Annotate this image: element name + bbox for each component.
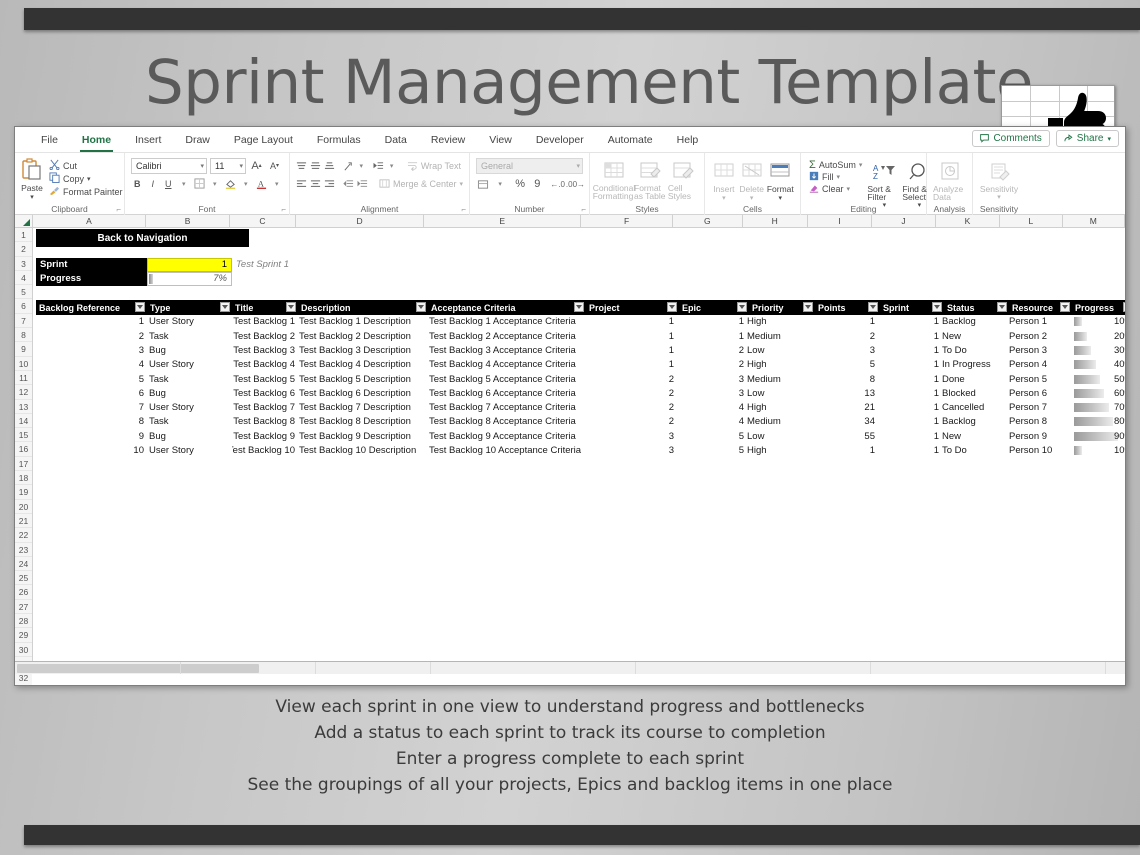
decrease-decimal-button[interactable]: .00→ bbox=[568, 177, 583, 192]
italic-button[interactable]: I bbox=[147, 176, 160, 191]
scrollbar-tick bbox=[635, 662, 636, 674]
filter-icon[interactable] bbox=[1123, 302, 1126, 312]
insert-cells-label: Insert bbox=[713, 184, 734, 194]
cell-title[interactable]: Test Backlog 8 bbox=[232, 415, 295, 429]
row-header-6[interactable]: 6 bbox=[15, 299, 32, 313]
wrap-text-button[interactable]: Wrap Text bbox=[405, 160, 463, 173]
chevron-down-icon[interactable]: ▾ bbox=[271, 176, 284, 191]
align-middle-button[interactable] bbox=[310, 159, 321, 174]
cell-title[interactable]: Test Backlog 5 bbox=[232, 372, 295, 386]
tab-draw[interactable]: Draw bbox=[173, 127, 222, 153]
cell-resource[interactable]: Person 10 bbox=[1009, 443, 1069, 457]
cell-backlog-reference[interactable]: 5 bbox=[36, 372, 144, 386]
progress-value-text: 7% bbox=[213, 273, 227, 284]
row-header-13[interactable]: 13 bbox=[15, 400, 32, 414]
chevron-down-icon[interactable]: ▾ bbox=[493, 177, 507, 192]
cell-sprint[interactable]: 1 bbox=[880, 443, 939, 457]
cell-description[interactable]: Test Backlog 5 Description bbox=[299, 372, 426, 386]
cell-area[interactable]: Back to Navigation Sprint 1 Test Sprint … bbox=[33, 228, 1125, 674]
cell-resource[interactable]: Person 6 bbox=[1009, 386, 1069, 400]
cell-project[interactable]: 2 bbox=[586, 372, 674, 386]
analyze-data-label: Analyze Data bbox=[933, 185, 966, 201]
select-all-corner[interactable] bbox=[15, 215, 33, 227]
cell-points[interactable]: 34 bbox=[815, 415, 875, 429]
cell-progress[interactable]: 20% bbox=[1072, 329, 1126, 343]
cell-sprint[interactable]: 1 bbox=[880, 372, 939, 386]
chevron-down-icon[interactable]: ▾ bbox=[387, 159, 395, 174]
row-header-25[interactable]: 25 bbox=[15, 571, 32, 585]
column-header-E[interactable]: E bbox=[424, 215, 581, 227]
cell-points[interactable]: 2 bbox=[815, 329, 875, 343]
cell-points[interactable]: 13 bbox=[815, 386, 875, 400]
horizontal-scrollbar[interactable] bbox=[15, 661, 1125, 674]
column-header-B[interactable]: B bbox=[146, 215, 230, 227]
caption-line-4: See the groupings of all your projects, … bbox=[0, 772, 1140, 798]
font-color-button[interactable]: A bbox=[255, 176, 268, 191]
cell-resource[interactable]: Person 4 bbox=[1009, 358, 1069, 372]
increase-decimal-button[interactable]: ←.0 bbox=[550, 177, 565, 192]
tab-formulas[interactable]: Formulas bbox=[305, 127, 373, 153]
cell-description[interactable]: Test Backlog 2 Description bbox=[299, 329, 426, 343]
cell-resource[interactable]: Person 1 bbox=[1009, 315, 1069, 329]
cell-status[interactable]: New bbox=[942, 429, 1006, 443]
ribbon-group-editing: Σ AutoSum ▾ Fill ▾ bbox=[801, 153, 927, 215]
filter-icon[interactable] bbox=[803, 302, 813, 312]
cell-title[interactable]: Test Backlog 6 bbox=[232, 386, 295, 400]
filter-icon[interactable] bbox=[1060, 302, 1070, 312]
decrease-font-size-button[interactable]: A▾ bbox=[267, 158, 282, 173]
row-header-9[interactable]: 9 bbox=[15, 342, 32, 356]
cell-priority[interactable]: High bbox=[747, 358, 811, 372]
cell-acceptance-criteria[interactable]: Test Backlog 3 Acceptance Criteria bbox=[429, 343, 584, 357]
column-header-L[interactable]: L bbox=[1000, 215, 1062, 227]
insert-cells-button[interactable]: Insert ▾ bbox=[711, 157, 737, 202]
comma-style-button[interactable]: 9 bbox=[530, 177, 544, 192]
column-header-M[interactable]: M bbox=[1063, 215, 1125, 227]
conditional-formatting-label: Conditional Formatting bbox=[593, 184, 636, 200]
cell-backlog-reference[interactable]: 9 bbox=[36, 429, 144, 443]
cell-progress[interactable]: 90% bbox=[1072, 429, 1126, 443]
tab-insert[interactable]: Insert bbox=[123, 127, 173, 153]
cut-button[interactable]: Cut bbox=[47, 159, 125, 172]
column-header-D[interactable]: D bbox=[296, 215, 425, 227]
table-header-description[interactable]: Description bbox=[298, 300, 428, 314]
cell-epic[interactable]: 3 bbox=[679, 386, 744, 400]
share-button[interactable]: Share ▾ bbox=[1056, 130, 1119, 147]
column-header-F[interactable]: F bbox=[581, 215, 673, 227]
cell-acceptance-criteria[interactable]: Test Backlog 9 Acceptance Criteria bbox=[429, 429, 584, 443]
tab-developer[interactable]: Developer bbox=[524, 127, 596, 153]
table-header-points[interactable]: Points bbox=[815, 300, 880, 314]
row-header-29[interactable]: 29 bbox=[15, 628, 32, 642]
table-header-acceptance-criteria[interactable]: Acceptance Criteria bbox=[428, 300, 586, 314]
filter-icon[interactable] bbox=[932, 302, 942, 312]
cell-epic[interactable]: 1 bbox=[679, 315, 744, 329]
filter-icon[interactable] bbox=[997, 302, 1007, 312]
chevron-down-icon: ▾ bbox=[87, 175, 91, 183]
cell-points[interactable]: 1 bbox=[815, 443, 875, 457]
clipboard-dialog-launcher[interactable]: ⌐ bbox=[116, 205, 121, 214]
share-label: Share bbox=[1077, 133, 1104, 144]
cell-points[interactable]: 1 bbox=[815, 315, 875, 329]
group-label-number: Number bbox=[470, 204, 589, 214]
cell-status[interactable]: Backlog bbox=[942, 315, 1006, 329]
column-header-A[interactable]: A bbox=[33, 215, 146, 227]
filter-icon[interactable] bbox=[220, 302, 230, 312]
cell-title[interactable]: Test Backlog 7 bbox=[232, 401, 295, 415]
cell-backlog-reference[interactable]: 4 bbox=[36, 358, 144, 372]
chevron-down-icon[interactable]: ▾ bbox=[178, 176, 191, 191]
cell-description[interactable]: Test Backlog 3 Description bbox=[299, 343, 426, 357]
sensitivity-button[interactable]: Sensitivity ▾ bbox=[979, 158, 1019, 201]
cell-project[interactable]: 2 bbox=[586, 415, 674, 429]
table-header-resource[interactable]: Resource bbox=[1009, 300, 1072, 314]
cell-resource[interactable]: Person 9 bbox=[1009, 429, 1069, 443]
bottom-decoration-bar bbox=[24, 825, 1140, 845]
fill-color-button[interactable] bbox=[224, 176, 237, 191]
cell-title[interactable]: Test Backlog 4 bbox=[232, 358, 295, 372]
cell-sprint[interactable]: 1 bbox=[880, 386, 939, 400]
alignment-dialog-launcher[interactable]: ⌐ bbox=[461, 205, 466, 214]
cell-epic[interactable]: 2 bbox=[679, 343, 744, 357]
cell-progress[interactable]: 60% bbox=[1072, 386, 1126, 400]
font-name-select[interactable]: Calibri ▾ bbox=[131, 158, 207, 174]
cell-project[interactable]: 1 bbox=[586, 329, 674, 343]
row-header-2[interactable]: 2 bbox=[15, 242, 32, 256]
format-as-table-button[interactable]: Format as Table bbox=[634, 157, 666, 200]
cell-epic[interactable]: 5 bbox=[679, 429, 744, 443]
font-size-value: 11 bbox=[215, 161, 224, 171]
comments-button[interactable]: Comments bbox=[972, 130, 1049, 147]
tab-page-layout[interactable]: Page Layout bbox=[222, 127, 305, 153]
scrollbar-tick bbox=[870, 662, 871, 674]
cell-acceptance-criteria[interactable]: Test Backlog 4 Acceptance Criteria bbox=[429, 358, 584, 372]
column-header-K[interactable]: K bbox=[936, 215, 1000, 227]
column-header-J[interactable]: J bbox=[872, 215, 935, 227]
cell-backlog-reference[interactable]: 6 bbox=[36, 386, 144, 400]
cell-acceptance-criteria[interactable]: Test Backlog 8 Acceptance Criteria bbox=[429, 415, 584, 429]
tab-automate[interactable]: Automate bbox=[596, 127, 665, 153]
filter-icon[interactable] bbox=[416, 302, 426, 312]
orientation-button[interactable] bbox=[343, 159, 354, 174]
cell-status[interactable]: Done bbox=[942, 372, 1006, 386]
paste-label: Paste bbox=[21, 183, 43, 193]
row-header-18[interactable]: 18 bbox=[15, 471, 32, 485]
caption-line-2: Add a status to each sprint to track its… bbox=[0, 720, 1140, 746]
cell-type[interactable]: Task bbox=[149, 329, 232, 343]
merge-center-button[interactable]: Merge & Center ▾ bbox=[377, 178, 465, 191]
cell-resource[interactable]: Person 3 bbox=[1009, 343, 1069, 357]
cell-project[interactable]: 3 bbox=[586, 429, 674, 443]
indent-button[interactable] bbox=[357, 177, 368, 192]
cell-resource[interactable]: Person 2 bbox=[1009, 329, 1069, 343]
cell-type[interactable]: Bug bbox=[149, 343, 232, 357]
cell-resource[interactable]: Person 7 bbox=[1009, 401, 1069, 415]
cell-sprint[interactable]: 1 bbox=[880, 401, 939, 415]
cell-status[interactable]: In Progress bbox=[942, 358, 1006, 372]
number-dialog-launcher[interactable]: ⌐ bbox=[581, 205, 586, 214]
filter-icon[interactable] bbox=[135, 302, 145, 312]
row-header-19[interactable]: 19 bbox=[15, 485, 32, 499]
cell-title[interactable]: Test Backlog 10 bbox=[232, 443, 295, 457]
row-header-21[interactable]: 21 bbox=[15, 514, 32, 528]
cell-progress[interactable]: 80% bbox=[1072, 415, 1126, 429]
align-right-button[interactable] bbox=[324, 177, 335, 192]
row-header-24[interactable]: 24 bbox=[15, 557, 32, 571]
align-left-button[interactable] bbox=[296, 177, 307, 192]
cell-acceptance-criteria[interactable]: Test Backlog 10 Acceptance Criteria bbox=[429, 443, 584, 457]
cell-progress[interactable]: 10% bbox=[1072, 315, 1126, 329]
accounting-format-button[interactable] bbox=[476, 177, 490, 192]
align-bottom-button[interactable] bbox=[324, 159, 335, 174]
cell-epic[interactable]: 2 bbox=[679, 358, 744, 372]
increase-indent-button[interactable] bbox=[373, 159, 384, 174]
cell-description[interactable]: Test Backlog 10 Description bbox=[299, 443, 426, 457]
row-header-16[interactable]: 16 bbox=[15, 442, 32, 456]
cell-points[interactable]: 3 bbox=[815, 343, 875, 357]
tab-view[interactable]: View bbox=[477, 127, 524, 153]
cell-resource[interactable]: Person 5 bbox=[1009, 372, 1069, 386]
column-header-G[interactable]: G bbox=[673, 215, 742, 227]
cell-priority[interactable]: Medium bbox=[747, 372, 811, 386]
chevron-down-icon[interactable]: ▾ bbox=[240, 176, 253, 191]
cell-backlog-reference[interactable]: 8 bbox=[36, 415, 144, 429]
row-header-20[interactable]: 20 bbox=[15, 500, 32, 514]
cell-priority[interactable]: Low bbox=[747, 386, 811, 400]
cell-type[interactable]: User Story bbox=[149, 315, 232, 329]
cell-acceptance-criteria[interactable]: Test Backlog 2 Acceptance Criteria bbox=[429, 329, 584, 343]
format-cells-button[interactable]: Format ▾ bbox=[767, 157, 794, 202]
cell-status[interactable]: To Do bbox=[942, 343, 1006, 357]
filter-icon[interactable] bbox=[667, 302, 677, 312]
row-header-14[interactable]: 14 bbox=[15, 414, 32, 428]
cell-epic[interactable]: 5 bbox=[679, 443, 744, 457]
row-header-23[interactable]: 23 bbox=[15, 543, 32, 557]
cell-resource[interactable]: Person 8 bbox=[1009, 415, 1069, 429]
row-header-8[interactable]: 8 bbox=[15, 328, 32, 342]
row-header-7[interactable]: 7 bbox=[15, 314, 32, 328]
cell-project[interactable]: 1 bbox=[586, 358, 674, 372]
cell-backlog-reference[interactable]: 10 bbox=[36, 443, 144, 457]
cell-description[interactable]: Test Backlog 7 Description bbox=[299, 401, 426, 415]
table-header-project[interactable]: Project bbox=[586, 300, 679, 314]
table-header-priority[interactable]: Priority bbox=[749, 300, 815, 314]
cell-progress[interactable]: 70% bbox=[1072, 401, 1126, 415]
cell-type[interactable]: User Story bbox=[149, 443, 232, 457]
row-header-22[interactable]: 22 bbox=[15, 528, 32, 542]
table-header-title[interactable]: Title bbox=[232, 300, 298, 314]
cell-title[interactable]: Test Backlog 9 bbox=[232, 429, 295, 443]
cell-acceptance-criteria[interactable]: Test Backlog 1 Acceptance Criteria bbox=[429, 315, 584, 329]
decrease-indent-button[interactable] bbox=[343, 177, 354, 192]
filter-icon[interactable] bbox=[868, 302, 878, 312]
cell-acceptance-criteria[interactable]: Test Backlog 5 Acceptance Criteria bbox=[429, 372, 584, 386]
column-header-H[interactable]: H bbox=[743, 215, 808, 227]
row-header-11[interactable]: 11 bbox=[15, 371, 32, 385]
cell-description[interactable]: Test Backlog 4 Description bbox=[299, 358, 426, 372]
tab-review[interactable]: Review bbox=[419, 127, 477, 153]
table-header-progress[interactable]: Progress bbox=[1072, 300, 1126, 314]
cell-title[interactable]: Test Backlog 3 bbox=[232, 343, 295, 357]
column-header-I[interactable]: I bbox=[808, 215, 872, 227]
cell-description[interactable]: Test Backlog 6 Description bbox=[299, 386, 426, 400]
cell-sprint[interactable]: 1 bbox=[880, 343, 939, 357]
cell-acceptance-criteria[interactable]: Test Backlog 6 Acceptance Criteria bbox=[429, 386, 584, 400]
cell-priority[interactable]: High bbox=[747, 443, 811, 457]
cell-description[interactable]: Test Backlog 8 Description bbox=[299, 415, 426, 429]
cell-status[interactable]: Cancelled bbox=[942, 401, 1006, 415]
cell-type[interactable]: Bug bbox=[149, 429, 232, 443]
font-dialog-launcher[interactable]: ⌐ bbox=[281, 205, 286, 214]
cell-progress[interactable]: 30% bbox=[1072, 343, 1126, 357]
row-header-17[interactable]: 17 bbox=[15, 457, 32, 471]
row-header-30[interactable]: 30 bbox=[15, 643, 32, 657]
copy-button[interactable]: Copy ▾ bbox=[47, 172, 125, 185]
cell-styles-button[interactable]: Cell Styles bbox=[668, 157, 698, 200]
fill-down-icon bbox=[809, 171, 819, 183]
back-to-navigation-button[interactable]: Back to Navigation bbox=[36, 229, 249, 247]
cell-type[interactable]: User Story bbox=[149, 358, 232, 372]
cell-points[interactable]: 8 bbox=[815, 372, 875, 386]
cell-type[interactable]: Task bbox=[149, 372, 232, 386]
eraser-icon bbox=[809, 183, 819, 195]
cell-priority[interactable]: Low bbox=[747, 343, 811, 357]
cell-backlog-reference[interactable]: 3 bbox=[36, 343, 144, 357]
cell-backlog-reference[interactable]: 1 bbox=[36, 315, 144, 329]
cell-sprint[interactable]: 1 bbox=[880, 429, 939, 443]
cell-points[interactable]: 21 bbox=[815, 401, 875, 415]
cell-description[interactable]: Test Backlog 1 Description bbox=[299, 315, 426, 329]
cell-priority[interactable]: Low bbox=[747, 429, 811, 443]
cell-title[interactable]: Test Backlog 1 bbox=[232, 315, 295, 329]
top-decoration-bar bbox=[24, 8, 1140, 30]
borders-button[interactable] bbox=[193, 176, 206, 191]
cell-type[interactable]: User Story bbox=[149, 401, 232, 415]
scrollbar-thumb[interactable] bbox=[17, 664, 259, 673]
row-header-27[interactable]: 27 bbox=[15, 600, 32, 614]
cell-progress[interactable]: 10% bbox=[1072, 443, 1126, 457]
cell-priority[interactable]: High bbox=[747, 315, 811, 329]
caption-block: View each sprint in one view to understa… bbox=[0, 694, 1140, 798]
cell-priority[interactable]: High bbox=[747, 401, 811, 415]
cell-progress[interactable]: 40% bbox=[1072, 358, 1126, 372]
clear-button[interactable]: Clear ▾ bbox=[807, 183, 864, 195]
table-header-backlog-reference[interactable]: Backlog Reference bbox=[36, 300, 147, 314]
cell-project[interactable]: 1 bbox=[586, 343, 674, 357]
align-center-button[interactable] bbox=[310, 177, 321, 192]
cell-description[interactable]: Test Backlog 9 Description bbox=[299, 429, 426, 443]
svg-text:Z: Z bbox=[873, 172, 878, 181]
row-header-1[interactable]: 1 bbox=[15, 228, 32, 242]
filter-icon[interactable] bbox=[286, 302, 296, 312]
ribbon-group-alignment: ▾ ▾ Wrap Text bbox=[290, 153, 470, 215]
scrollbar-tick bbox=[315, 662, 316, 674]
cell-status[interactable]: New bbox=[942, 329, 1006, 343]
table-header-epic[interactable]: Epic bbox=[679, 300, 749, 314]
table-header-type[interactable]: Type bbox=[147, 300, 232, 314]
cell-points[interactable]: 55 bbox=[815, 429, 875, 443]
tab-help[interactable]: Help bbox=[665, 127, 711, 153]
cell-type[interactable]: Task bbox=[149, 415, 232, 429]
sprint-value-input[interactable]: 1 bbox=[147, 258, 232, 272]
group-label-styles: Styles bbox=[590, 204, 704, 214]
cell-backlog-reference[interactable]: 2 bbox=[36, 329, 144, 343]
tab-data[interactable]: Data bbox=[373, 127, 419, 153]
row-header-28[interactable]: 28 bbox=[15, 614, 32, 628]
cell-epic[interactable]: 1 bbox=[679, 329, 744, 343]
cell-acceptance-criteria[interactable]: Test Backlog 7 Acceptance Criteria bbox=[429, 401, 584, 415]
fill-button[interactable]: Fill ▾ bbox=[807, 171, 864, 183]
cell-status[interactable]: To Do bbox=[942, 443, 1006, 457]
number-format-select[interactable]: General ▾ bbox=[476, 158, 583, 174]
cell-progress[interactable]: 50% bbox=[1072, 372, 1126, 386]
cell-project[interactable]: 2 bbox=[586, 401, 674, 415]
cell-epic[interactable]: 4 bbox=[679, 401, 744, 415]
chevron-down-icon[interactable]: ▾ bbox=[357, 159, 365, 174]
chevron-down-icon: ▾ bbox=[460, 180, 464, 188]
cell-epic[interactable]: 3 bbox=[679, 372, 744, 386]
font-size-select[interactable]: 11 ▾ bbox=[210, 158, 246, 174]
cell-sprint[interactable]: 1 bbox=[880, 415, 939, 429]
row-header-4[interactable]: 4 bbox=[15, 271, 32, 285]
underline-button[interactable]: U bbox=[162, 176, 175, 191]
increase-font-size-button[interactable]: A▴ bbox=[249, 158, 264, 173]
cell-points[interactable]: 5 bbox=[815, 358, 875, 372]
row-header-3[interactable]: 3 bbox=[15, 257, 32, 271]
cell-priority[interactable]: Medium bbox=[747, 415, 811, 429]
align-top-button[interactable] bbox=[296, 159, 307, 174]
cell-backlog-reference[interactable]: 7 bbox=[36, 401, 144, 415]
progress-value[interactable]: 7% bbox=[147, 272, 232, 286]
row-header-26[interactable]: 26 bbox=[15, 585, 32, 599]
cell-sprint[interactable]: 1 bbox=[880, 315, 939, 329]
row-header-15[interactable]: 15 bbox=[15, 428, 32, 442]
cell-priority[interactable]: Medium bbox=[747, 329, 811, 343]
conditional-formatting-button[interactable]: Conditional Formatting bbox=[596, 157, 632, 200]
cell-project[interactable]: 3 bbox=[586, 443, 674, 457]
cell-sprint[interactable]: 1 bbox=[880, 358, 939, 372]
table-header-status[interactable]: Status bbox=[944, 300, 1009, 314]
cell-type[interactable]: Bug bbox=[149, 386, 232, 400]
row-header-10[interactable]: 10 bbox=[15, 357, 32, 371]
bold-button[interactable]: B bbox=[131, 176, 144, 191]
cell-title[interactable]: Test Backlog 2 bbox=[232, 329, 295, 343]
delete-cells-button[interactable]: Delete ▾ bbox=[739, 157, 765, 202]
analyze-data-button[interactable]: Analyze Data bbox=[933, 158, 966, 201]
cell-project[interactable]: 2 bbox=[586, 386, 674, 400]
cell-status[interactable]: Blocked bbox=[942, 386, 1006, 400]
table-header-sprint[interactable]: Sprint bbox=[880, 300, 944, 314]
chevron-down-icon[interactable]: ▾ bbox=[209, 176, 222, 191]
row-header-12[interactable]: 12 bbox=[15, 385, 32, 399]
cell-project[interactable]: 1 bbox=[586, 315, 674, 329]
sort-filter-button[interactable]: AZ Sort & Filter ▾ bbox=[867, 158, 901, 209]
column-header-C[interactable]: C bbox=[230, 215, 295, 227]
filter-icon[interactable] bbox=[574, 302, 584, 312]
scrollbar-tick bbox=[430, 662, 431, 674]
tab-home[interactable]: Home bbox=[70, 127, 123, 153]
autosum-button[interactable]: Σ AutoSum ▾ bbox=[807, 159, 864, 171]
percent-style-button[interactable]: % bbox=[513, 177, 527, 192]
cell-sprint[interactable]: 1 bbox=[880, 329, 939, 343]
cell-status[interactable]: Backlog bbox=[942, 415, 1006, 429]
row-header-5[interactable]: 5 bbox=[15, 285, 32, 299]
cell-epic[interactable]: 4 bbox=[679, 415, 744, 429]
format-painter-button[interactable]: Format Painter bbox=[47, 185, 125, 198]
paste-button[interactable]: Paste ▾ bbox=[21, 156, 43, 201]
tab-file[interactable]: File bbox=[29, 127, 70, 153]
filter-icon[interactable] bbox=[737, 302, 747, 312]
